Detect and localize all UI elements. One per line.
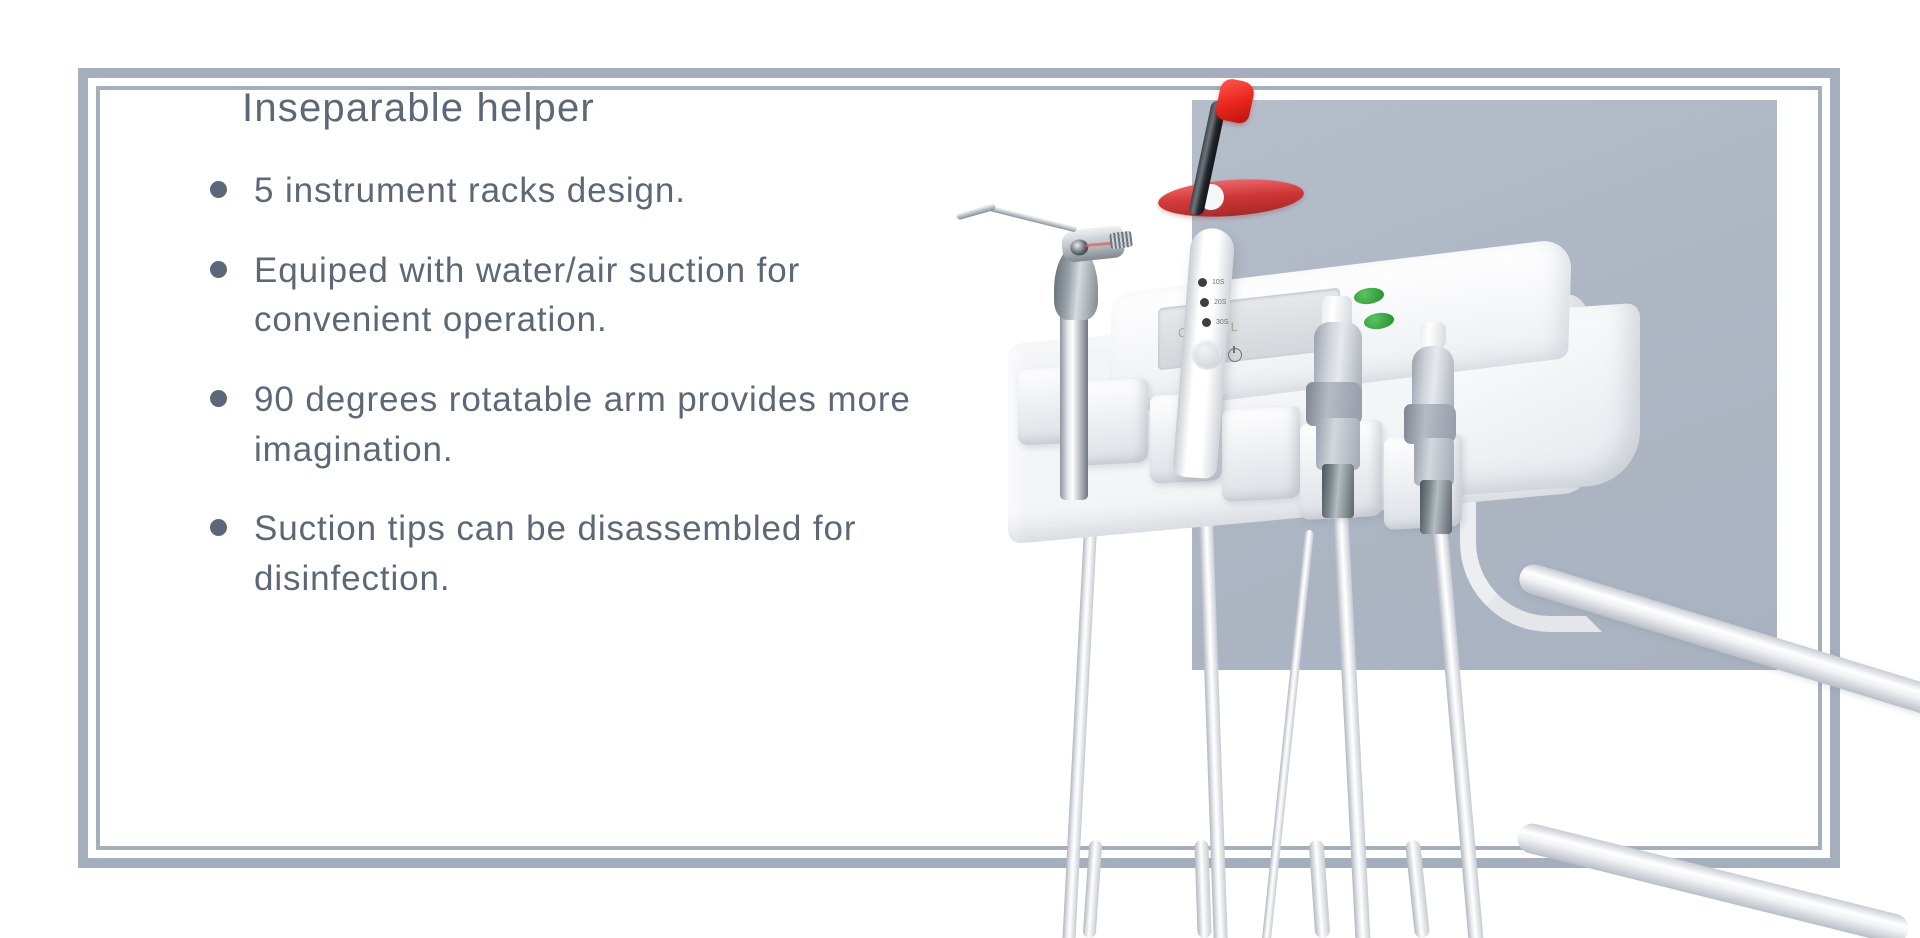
list-item: Suction tips can be disassembled for dis… — [210, 504, 950, 603]
bullet-dot-icon — [210, 519, 227, 536]
air-water-syringe-body — [1060, 310, 1088, 500]
suction-mid-body-2 — [1414, 438, 1454, 486]
bullet-dot-icon — [210, 181, 227, 198]
list-item: 5 instrument racks design. — [210, 166, 950, 216]
curing-light-led-2 — [1200, 298, 1209, 307]
list-item-label: Suction tips can be disassembled for dis… — [254, 504, 944, 603]
list-item: 90 degrees rotatable arm provides more i… — [210, 375, 950, 474]
content-text-column: Inseparable helper 5 instrument racks de… — [210, 86, 950, 634]
curing-light-timer-label-1: 10S — [1212, 279, 1224, 286]
suction-metal-stem-2 — [1420, 480, 1452, 534]
instrument-rack-2 — [1078, 378, 1148, 466]
list-item: Equiped with water/air suction for conve… — [210, 246, 950, 345]
bullet-dot-icon — [210, 261, 227, 278]
air-water-syringe-knurl — [1109, 231, 1133, 250]
curing-light-led-3 — [1202, 318, 1211, 327]
suction-mid-body-1 — [1316, 418, 1360, 470]
list-item-label: Equiped with water/air suction for conve… — [254, 246, 944, 345]
curing-light-led-1 — [1198, 278, 1207, 287]
curing-light-button — [1193, 340, 1221, 368]
list-item-label: 5 instrument racks design. — [254, 166, 686, 216]
list-item-label: 90 degrees rotatable arm provides more i… — [254, 375, 944, 474]
curing-light-timer-label-3: 30S — [1216, 319, 1228, 326]
air-water-syringe-nozzle-tip — [956, 203, 996, 221]
suction-metal-stem-1 — [1322, 464, 1354, 518]
bullet-dot-icon — [210, 390, 227, 407]
instrument-rack-4 — [1222, 406, 1300, 502]
curing-light-power-icon — [1228, 348, 1242, 362]
slide-canvas: Inseparable helper 5 instrument racks de… — [0, 0, 1920, 938]
page-title: Inseparable helper — [242, 86, 950, 130]
feature-bullet-list: 5 instrument racks design. Equiped with … — [210, 166, 950, 604]
curing-light-timer-label-2: 20S — [1214, 299, 1226, 306]
air-water-syringe-nozzle — [983, 203, 1078, 232]
product-photo: CINGOL — [960, 60, 1920, 938]
